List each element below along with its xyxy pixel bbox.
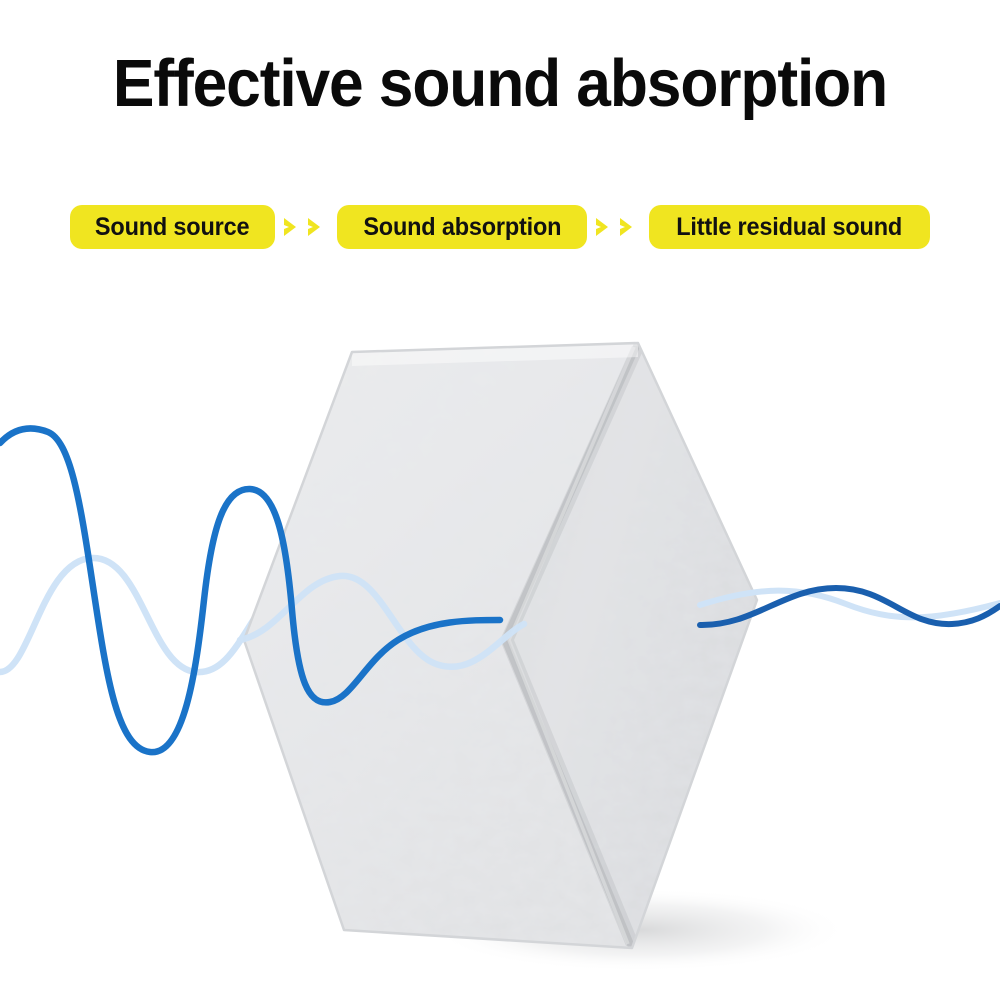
product-illustration xyxy=(0,0,1000,1000)
badge-label: Little residual sound xyxy=(677,215,903,240)
incoming-faint-wave xyxy=(0,558,500,672)
panel-right-face xyxy=(505,343,757,948)
hexagonal-panel xyxy=(244,343,775,960)
outgoing-strong-wave xyxy=(700,588,1000,625)
badge-label: Sound source xyxy=(95,215,249,240)
outgoing-faint-wave xyxy=(700,591,1000,618)
incoming-strong-wave xyxy=(0,428,500,752)
badge-label: Sound absorption xyxy=(363,215,561,240)
panel-front-face xyxy=(244,343,638,948)
badge-little-residual-sound[interactable]: Little residual sound xyxy=(649,205,929,249)
process-flow-badges: Sound source Sound absorption Little res… xyxy=(0,204,1000,250)
panel-ground-shadow xyxy=(430,888,850,972)
page-title: Effective sound absorption xyxy=(35,48,965,120)
badge-sound-source[interactable]: Sound source xyxy=(70,205,274,249)
double-chevron-right-icon xyxy=(587,205,649,249)
marketing-banner: Effective sound absorption Sound source … xyxy=(0,0,1000,1000)
panel-ridge-crease xyxy=(505,343,638,948)
double-chevron-right-icon xyxy=(275,205,337,249)
incoming-faint-wave-overlay xyxy=(240,576,524,667)
badge-sound-absorption[interactable]: Sound absorption xyxy=(337,205,588,249)
